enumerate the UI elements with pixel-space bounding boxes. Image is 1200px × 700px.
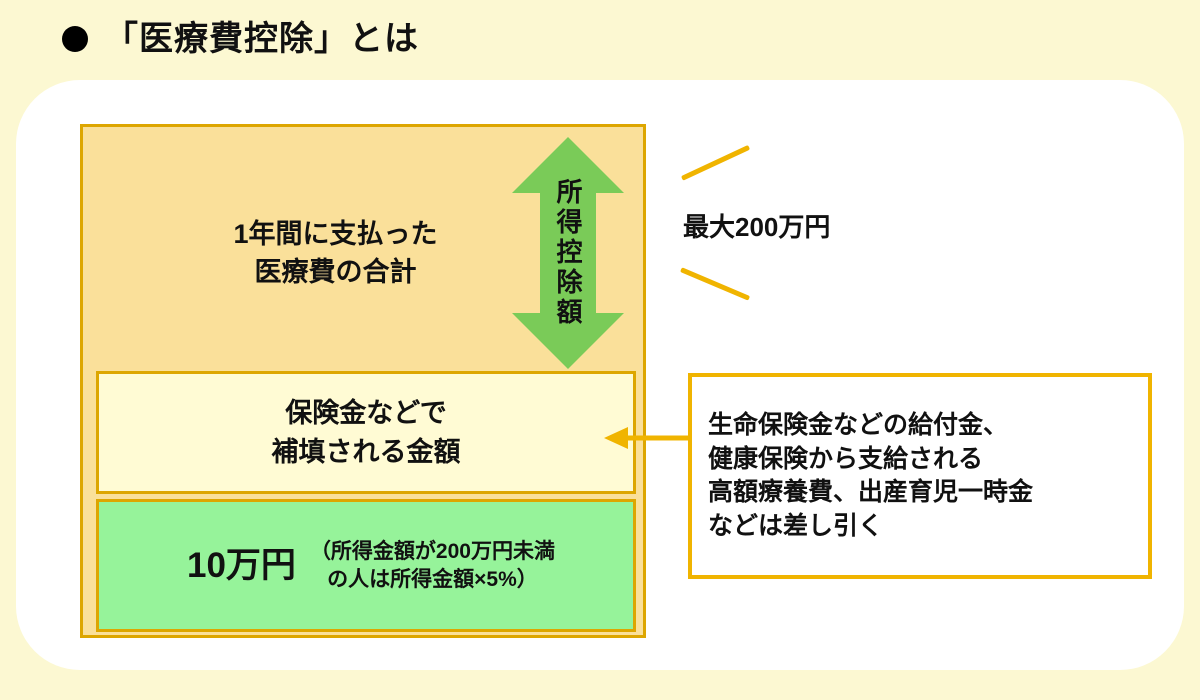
left-arrow-icon <box>600 424 692 452</box>
page-header: 「医療費控除」とは <box>62 22 419 56</box>
insurance-callout-text: 生命保険金などの給付金、 健康保険から支給される 高額療養費、出産育児一時金 な… <box>692 409 1033 543</box>
callout-connector-arrow <box>600 424 692 452</box>
income-deduction-arrow-label: 所得控除額 <box>555 178 581 328</box>
threshold-amount-note: （所得金額が200万円未満 の人は所得金額×5%） <box>310 538 555 593</box>
income-deduction-arrow: 所得控除額 <box>512 137 624 369</box>
threshold-amount-box: 10万円 （所得金額が200万円未満 の人は所得金額×5%） <box>96 499 636 632</box>
insurance-reimbursement-label: 保険金などで 補填される金額 <box>272 394 461 471</box>
bullet-dot-icon <box>62 26 88 52</box>
income-deduction-arrow-label-wrap: 所得控除額 <box>512 137 624 369</box>
insurance-callout-box: 生命保険金などの給付金、 健康保険から支給される 高額療養費、出産育児一時金 な… <box>688 373 1152 579</box>
max-deduction-label: 最大200万円 <box>683 214 830 240</box>
threshold-amount-value: 10万円 <box>187 548 296 583</box>
insurance-reimbursement-box: 保険金などで 補填される金額 <box>96 371 636 494</box>
page-title: 「医療費控除」とは <box>104 22 419 56</box>
